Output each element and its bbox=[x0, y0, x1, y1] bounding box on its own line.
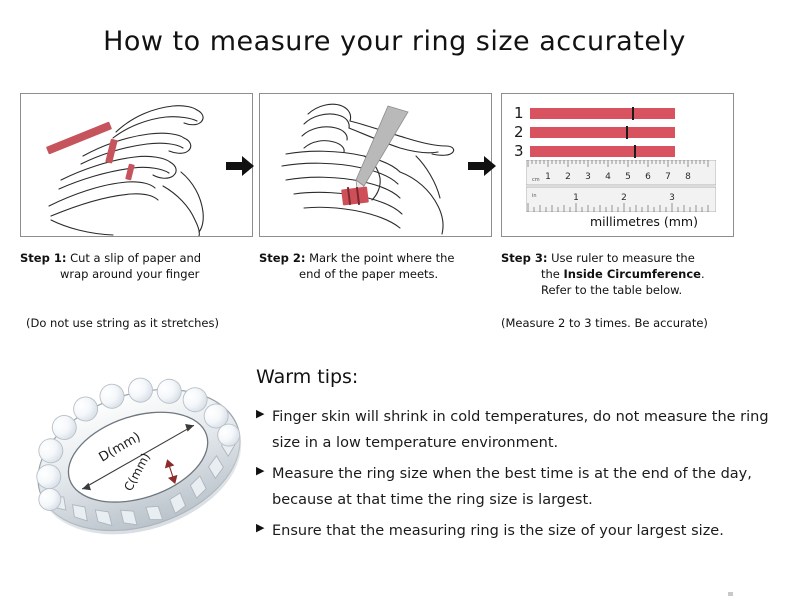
step-2-caption: Step 2: Mark the point where the end of … bbox=[259, 250, 494, 282]
svg-text:2: 2 bbox=[621, 193, 627, 203]
step-3-inside-circumference: Inside Circumference bbox=[564, 267, 701, 281]
step-3-note: (Measure 2 to 3 times. Be accurate) bbox=[501, 316, 708, 330]
step-2-illustration-panel bbox=[259, 93, 492, 237]
step-column-3: 1 2 3 bbox=[501, 93, 736, 298]
warm-tips-section: Warm tips: ▶ Finger skin will shrink in … bbox=[256, 366, 776, 549]
tip-item: ▶ Finger skin will shrink in cold temper… bbox=[256, 404, 776, 456]
steps-row: Step 1: Cut a slip of paper and wrap aro… bbox=[0, 93, 789, 333]
tip-text-1: Finger skin will shrink in cold temperat… bbox=[272, 404, 776, 456]
paper-band-with-mark bbox=[341, 186, 369, 205]
step-3-line3: Refer to the table below. bbox=[501, 282, 736, 298]
strip-bar-2 bbox=[530, 127, 675, 138]
step-column-1: Step 1: Cut a slip of paper and wrap aro… bbox=[20, 93, 255, 282]
svg-text:1: 1 bbox=[573, 193, 579, 203]
strip-number-3: 3 bbox=[514, 144, 530, 159]
corner-artifact bbox=[728, 592, 733, 596]
step-3-line2-prefix: the bbox=[541, 267, 564, 281]
ruler-icon: 123 456 78 cm bbox=[526, 160, 716, 212]
svg-text:cm: cm bbox=[532, 177, 540, 183]
paper-slip-loose bbox=[46, 122, 112, 155]
step-3-line1: Use ruler to measure the bbox=[551, 251, 695, 265]
svg-text:3: 3 bbox=[669, 193, 675, 203]
measured-strip-row-1: 1 bbox=[514, 106, 675, 121]
step-1-illustration-panel bbox=[20, 93, 253, 237]
svg-text:1: 1 bbox=[545, 172, 551, 182]
strip-bar-3 bbox=[530, 146, 675, 157]
step-1-line2: wrap around your finger bbox=[20, 266, 255, 282]
step-2-lead: Step 2: bbox=[259, 251, 305, 265]
svg-text:7: 7 bbox=[665, 172, 671, 182]
tip-item: ▶ Measure the ring size when the best ti… bbox=[256, 461, 776, 513]
step-1-lead: Step 1: bbox=[20, 251, 66, 265]
step-2-line1: Mark the point where the bbox=[309, 251, 454, 265]
ring-diagram: D(mm) C(mm) bbox=[26, 352, 252, 568]
millimetres-label: millimetres (mm) bbox=[590, 214, 698, 229]
measured-strip-row-2: 2 bbox=[514, 125, 675, 140]
strip-number-1: 1 bbox=[514, 106, 530, 121]
svg-text:3: 3 bbox=[585, 172, 591, 182]
svg-text:4: 4 bbox=[605, 172, 611, 182]
bullet-triangle-icon: ▶ bbox=[256, 461, 272, 476]
arrow-step1-to-step2 bbox=[226, 153, 254, 179]
strip-mark-1 bbox=[632, 107, 634, 120]
step-3-caption: Step 3: Use ruler to measure the the Ins… bbox=[501, 250, 736, 298]
step-1-line1: Cut a slip of paper and bbox=[70, 251, 201, 265]
strip-bar-1 bbox=[530, 108, 675, 119]
step-3-line2: the Inside Circumference. bbox=[501, 266, 736, 282]
step-3-illustration-panel: 1 2 3 bbox=[501, 93, 734, 237]
step-3-line2-suffix: . bbox=[701, 267, 705, 281]
bullet-triangle-icon: ▶ bbox=[256, 518, 272, 533]
hand-marking-with-pen-drawing bbox=[260, 94, 492, 237]
tip-item: ▶ Ensure that the measuring ring is the … bbox=[256, 518, 776, 544]
svg-text:5: 5 bbox=[625, 172, 631, 182]
tip-text-2: Measure the ring size when the best time… bbox=[272, 461, 776, 513]
svg-text:2: 2 bbox=[565, 172, 571, 182]
bullet-triangle-icon: ▶ bbox=[256, 404, 272, 419]
svg-text:8: 8 bbox=[685, 172, 691, 182]
step-1-caption: Step 1: Cut a slip of paper and wrap aro… bbox=[20, 250, 255, 282]
svg-text:6: 6 bbox=[645, 172, 651, 182]
measured-strip-row-3: 3 bbox=[514, 144, 675, 159]
step-column-2: Step 2: Mark the point where the end of … bbox=[259, 93, 494, 282]
paper-slip-on-finger-2 bbox=[125, 164, 135, 181]
strip-mark-3 bbox=[634, 145, 636, 158]
warm-tips-title: Warm tips: bbox=[256, 366, 776, 388]
page-title: How to measure your ring size accurately bbox=[0, 26, 789, 57]
hand-with-paper-slip-drawing bbox=[21, 94, 253, 237]
svg-text:in: in bbox=[532, 193, 537, 199]
step-1-note: (Do not use string as it stretches) bbox=[26, 316, 219, 330]
arrow-step2-to-step3 bbox=[468, 153, 496, 179]
tip-text-3: Ensure that the measuring ring is the si… bbox=[272, 518, 776, 544]
strip-mark-2 bbox=[626, 126, 628, 139]
step-2-line2: end of the paper meets. bbox=[259, 266, 494, 282]
step-3-lead: Step 3: bbox=[501, 251, 547, 265]
pen bbox=[356, 106, 408, 198]
strip-number-2: 2 bbox=[514, 125, 530, 140]
